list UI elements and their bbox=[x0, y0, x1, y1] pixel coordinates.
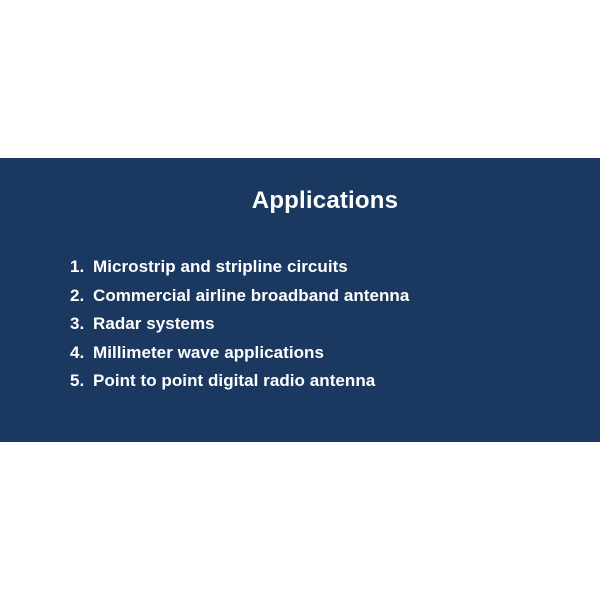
list-item-number: 1. bbox=[70, 253, 93, 282]
applications-list: 1.Microstrip and stripline circuits 2.Co… bbox=[70, 253, 409, 396]
slide-panel: Applications 1.Microstrip and stripline … bbox=[0, 158, 600, 442]
list-item-text: Commercial airline broadband antenna bbox=[93, 286, 409, 305]
list-item: 5.Point to point digital radio antenna bbox=[70, 367, 409, 396]
letterbox-bottom bbox=[0, 442, 600, 600]
list-item-text: Radar systems bbox=[93, 314, 215, 333]
list-item-number: 4. bbox=[70, 339, 93, 368]
list-item: 2.Commercial airline broadband antenna bbox=[70, 282, 409, 311]
slide-frame: Applications 1.Microstrip and stripline … bbox=[0, 0, 600, 600]
letterbox-top bbox=[0, 0, 600, 158]
list-item-number: 5. bbox=[70, 367, 93, 396]
list-item-number: 3. bbox=[70, 310, 93, 339]
list-item: 1.Microstrip and stripline circuits bbox=[70, 253, 409, 282]
list-item-text: Millimeter wave applications bbox=[93, 343, 324, 362]
list-item-number: 2. bbox=[70, 282, 93, 311]
list-item: 3.Radar systems bbox=[70, 310, 409, 339]
list-item: 4.Millimeter wave applications bbox=[70, 339, 409, 368]
list-item-text: Point to point digital radio antenna bbox=[93, 371, 375, 390]
slide-title: Applications bbox=[0, 188, 600, 214]
list-item-text: Microstrip and stripline circuits bbox=[93, 257, 348, 276]
